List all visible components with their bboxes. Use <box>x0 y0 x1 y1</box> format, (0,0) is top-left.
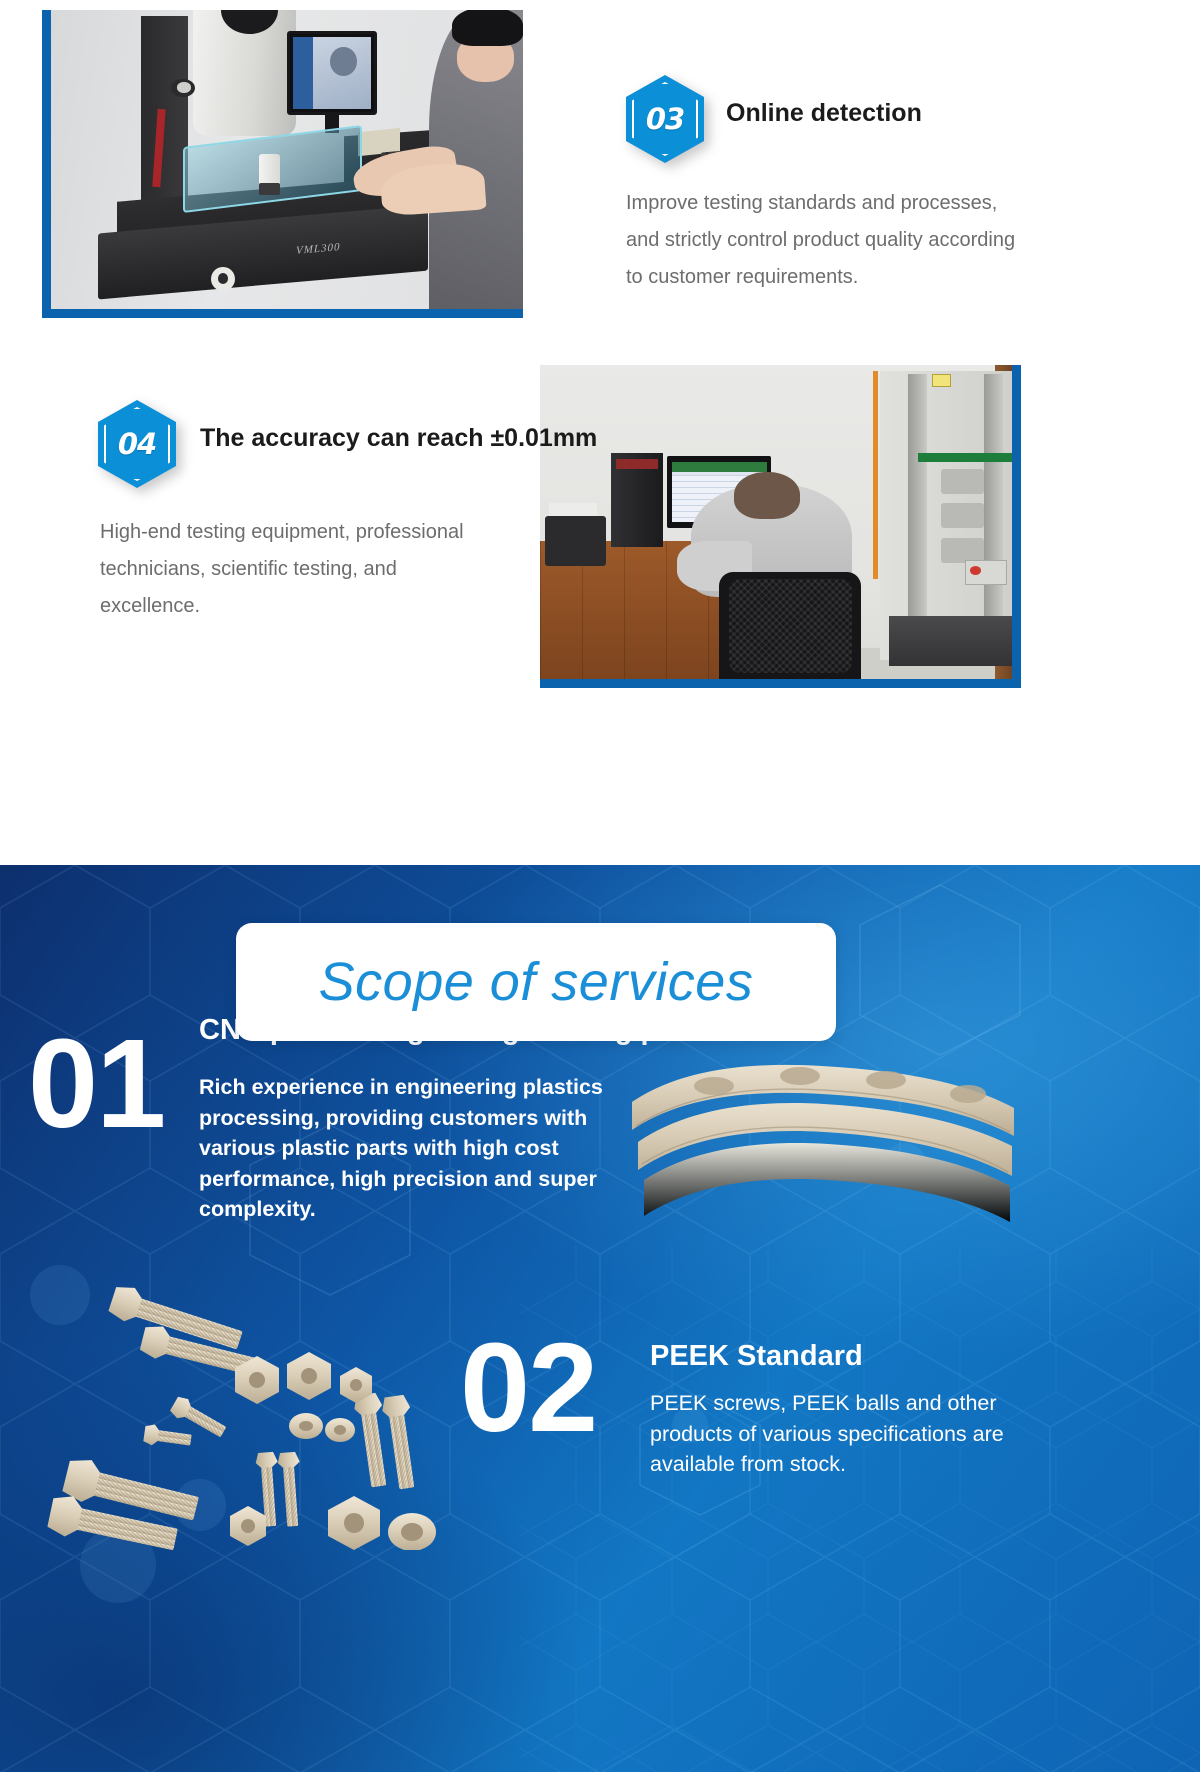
scope-title-card: Scope of services <box>236 923 836 1041</box>
feature-photo-04 <box>540 365 1021 688</box>
service-body-01: Rich experience in engineering plastics … <box>199 1072 619 1225</box>
service-number-01: 01 <box>28 1030 164 1138</box>
image-peek-machined-part <box>622 1050 1022 1265</box>
feature-title-04: The accuracy can reach ±0.01mm <box>200 400 597 458</box>
feature-number-03: 03 <box>626 75 704 163</box>
feature-text-04: 04 The accuracy can reach ±0.01mm High-e… <box>98 400 597 625</box>
hexagon-badge-icon: 04 <box>98 400 176 488</box>
scope-title: Scope of services <box>319 951 754 1013</box>
service-body-02: PEEK screws, PEEK balls and other produc… <box>650 1388 1030 1480</box>
image-peek-bolts-nuts <box>40 1280 460 1550</box>
features-section: VML300 03 Online detection Improve testi… <box>0 0 1200 865</box>
feature-body-03: Improve testing standards and processes,… <box>626 185 1026 296</box>
service-number-02: 02 <box>460 1334 596 1442</box>
photo-tensile-testing-lab <box>540 365 1012 679</box>
feature-block-03: VML300 03 Online detection Improve testi… <box>0 0 1200 350</box>
hexagon-badge-icon: 03 <box>626 75 704 163</box>
feature-text-03: 03 Online detection Improve testing stan… <box>626 75 1026 296</box>
feature-number-04: 04 <box>98 400 176 488</box>
photo-optical-measuring-machine: VML300 <box>51 10 523 309</box>
feature-photo-03: VML300 <box>42 10 523 318</box>
feature-body-04: High-end testing equipment, professional… <box>100 514 500 625</box>
feature-title-03: Online detection <box>726 75 922 133</box>
service-title-02: PEEK Standard <box>650 1340 863 1373</box>
